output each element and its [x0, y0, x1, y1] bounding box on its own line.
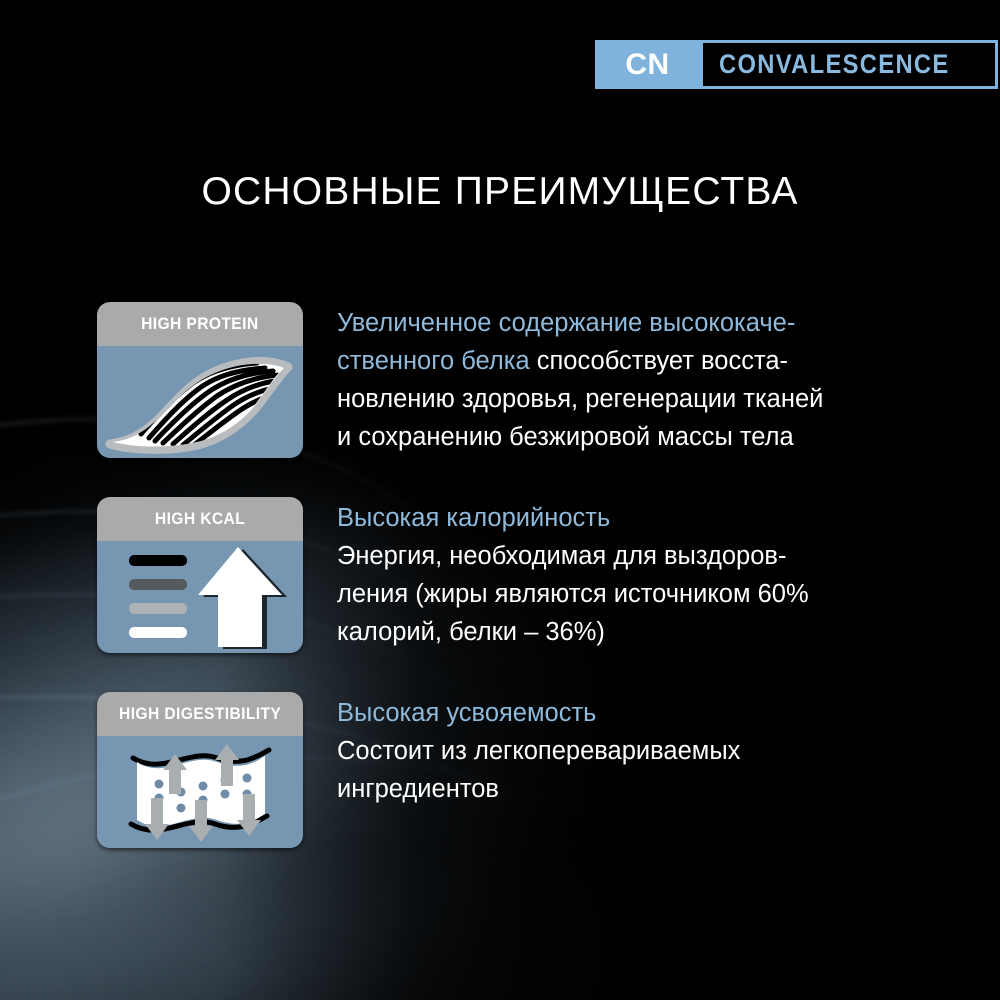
card-body-high-protein	[97, 346, 303, 458]
brand-logo: CN CONVALESCENCE	[595, 40, 998, 89]
badge-high-digestibility: HIGH DIGESTIBILITY	[97, 692, 303, 736]
benefit-row-high-digestibility: HIGH DIGESTIBILITY	[97, 692, 957, 862]
badge-label: HIGH PROTEIN	[141, 314, 258, 334]
poster-canvas: CN CONVALESCENCE ОСНОВНЫЕ ПРЕИМУЩЕСТВА H…	[0, 0, 1000, 1000]
badge-label: HIGH DIGESTIBILITY	[119, 704, 281, 724]
benefits-list: HIGH PROTEIN	[97, 302, 957, 862]
benefit-row-high-protein: HIGH PROTEIN	[97, 302, 957, 497]
benefit-row-high-kcal: HIGH KCAL	[97, 497, 957, 692]
benefit-line: калорий, белки – 36%)	[337, 613, 957, 651]
logo-wordmark-text: CONVALESCENCE	[719, 49, 950, 80]
benefit-text-high-kcal: Высокая калорийность Энергия, необходима…	[303, 497, 957, 651]
benefit-line: Состоит из легкоперевариваемых	[337, 732, 957, 770]
benefit-line: ингредиентов	[337, 770, 957, 808]
logo-mark-box: CN	[595, 40, 700, 89]
card-body-high-kcal	[97, 541, 303, 653]
text-segment: калорий, белки – 36%)	[337, 618, 605, 646]
intestinal-absorption-icon	[97, 736, 303, 848]
benefit-line: и сохранению безжировой массы тела	[337, 418, 957, 456]
bars-up-arrow-icon	[97, 541, 303, 653]
text-segment: способствует восста-	[537, 347, 788, 375]
benefit-line: Энергия, необходимая для выздоров-	[337, 537, 957, 575]
text-segment: Увеличенное содержание высококаче-	[337, 309, 795, 337]
badge-high-kcal: HIGH KCAL	[97, 497, 303, 541]
card-body-high-digestibility	[97, 736, 303, 848]
muscle-fiber-icon	[97, 346, 303, 458]
benefit-card-high-digestibility: HIGH DIGESTIBILITY	[97, 692, 303, 848]
text-segment: Энергия, необходимая для выздоров-	[337, 542, 786, 570]
benefit-line: ственного белка способствует восста-	[337, 342, 957, 380]
benefit-line: Высокая калорийность	[337, 499, 957, 537]
text-segment: ления (жиры являются источником 60%	[337, 580, 809, 608]
benefit-text-high-protein: Увеличенное содержание высококаче- ствен…	[303, 302, 957, 456]
benefit-line: Высокая усвояемость	[337, 694, 957, 732]
benefit-line: ления (жиры являются источником 60%	[337, 575, 957, 613]
text-segment: ственного белка	[337, 347, 537, 375]
badge-label: HIGH KCAL	[155, 509, 245, 529]
benefit-card-high-kcal: HIGH KCAL	[97, 497, 303, 653]
benefit-card-high-protein: HIGH PROTEIN	[97, 302, 303, 458]
text-segment: новлению здоровья, регенерации тканей	[337, 385, 823, 413]
badge-high-protein: HIGH PROTEIN	[97, 302, 303, 346]
logo-wordmark-box: CONVALESCENCE	[700, 40, 998, 89]
benefit-line: новлению здоровья, регенерации тканей	[337, 380, 957, 418]
text-segment: Высокая калорийность	[337, 504, 610, 532]
benefit-text-high-digestibility: Высокая усвояемость Состоит из легкопере…	[303, 692, 957, 808]
text-segment: Состоит из легкоперевариваемых	[337, 737, 740, 765]
text-segment: и сохранению безжировой массы тела	[337, 423, 794, 451]
text-segment: Высокая усвояемость	[337, 699, 596, 727]
benefit-line: Увеличенное содержание высококаче-	[337, 304, 957, 342]
page-title: ОСНОВНЫЕ ПРЕИМУЩЕСТВА	[0, 170, 1000, 214]
text-segment: ингредиентов	[337, 775, 499, 803]
logo-mark-text: CN	[625, 48, 669, 82]
